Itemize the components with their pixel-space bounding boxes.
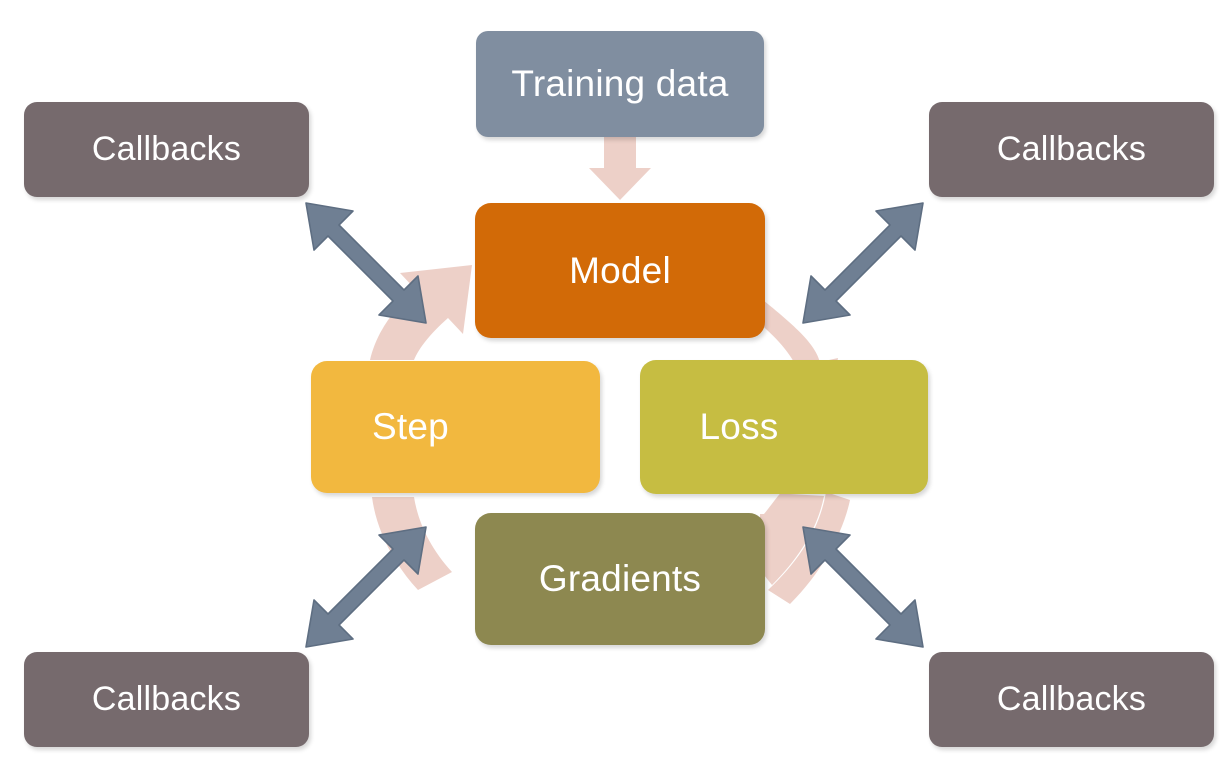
callback-arrow-bottom-left [306,527,426,647]
loss-to-gradients-arrow [760,489,850,604]
node-callbacks-bottom-right-label: Callbacks [929,680,1214,719]
gradients-to-step-arrow [372,497,452,590]
node-training-data[interactable]: Training data [476,31,764,137]
node-training-data-label: Training data [476,63,764,105]
node-callbacks-bottom-right[interactable]: Callbacks [929,652,1214,747]
step-to-model-arrow [370,265,472,360]
callback-arrow-top-right [803,203,923,323]
diagram-canvas: Training data Model Step Loss Gradients … [0,0,1229,777]
node-model[interactable]: Model [475,203,765,338]
node-callbacks-top-right-label: Callbacks [929,130,1214,169]
node-callbacks-top-right[interactable]: Callbacks [929,102,1214,197]
callback-arrow-bottom-right [803,527,923,647]
node-callbacks-bottom-left-label: Callbacks [24,680,309,719]
node-callbacks-top-left-label: Callbacks [24,130,309,169]
node-loss-label: Loss [640,406,928,448]
callback-arrow-top-left [306,203,426,323]
node-step[interactable]: Step [311,361,600,493]
node-gradients-label: Gradients [475,558,765,600]
training-data-to-model-arrow [589,137,651,200]
node-gradients[interactable]: Gradients [475,513,765,645]
node-loss[interactable]: Loss [640,360,928,494]
node-callbacks-bottom-left[interactable]: Callbacks [24,652,309,747]
node-step-label: Step [311,406,600,448]
node-callbacks-top-left[interactable]: Callbacks [24,102,309,197]
node-model-label: Model [475,250,765,292]
